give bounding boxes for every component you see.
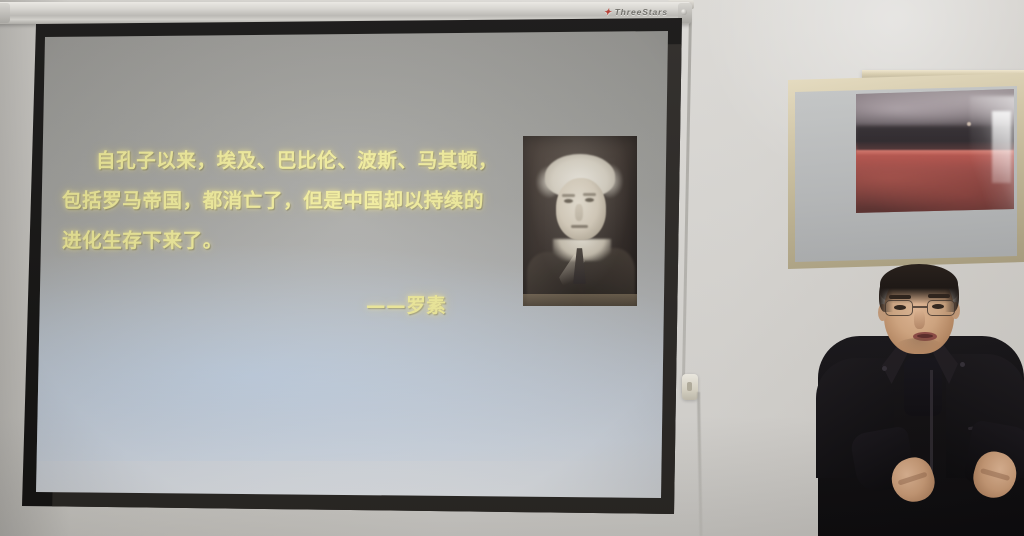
presenter-nose xyxy=(914,310,925,329)
glass-glare-strip xyxy=(992,111,1011,183)
projected-slide-surface[interactable]: 自孔子以来，埃及、巴比伦、波斯、马其顿， 包括罗马帝国，都消亡了，但是中国却以持… xyxy=(36,31,668,498)
star-icon: ✦ xyxy=(604,8,612,16)
presenter-jacket-button-left xyxy=(882,366,887,371)
slide-quote-line-3: 进化生存下来了。 xyxy=(62,221,522,261)
presenter-brow-right xyxy=(928,294,950,298)
presenter-chin-shadow xyxy=(896,338,942,354)
presenter-jacket-placket xyxy=(930,370,933,474)
projector-screen-brand: ✦ ThreeStars xyxy=(604,7,668,17)
glasses-bridge xyxy=(913,306,927,308)
slide-quote-line-1: 自孔子以来，埃及、巴比伦、波斯、马其顿， xyxy=(62,141,522,181)
picture-artwork xyxy=(856,89,1014,213)
brand-label: ThreeStars xyxy=(615,7,668,17)
presenter-inner-shirt xyxy=(904,358,942,416)
slide-attribution: ——罗素 xyxy=(366,289,446,318)
bertrand-russell-portrait xyxy=(523,136,637,306)
slide-quote-line-2: 包括罗马帝国，都消亡了，但是中国却以持续的 xyxy=(62,181,522,221)
presenter-brow-left xyxy=(889,295,911,299)
slide-quote-text: 自孔子以来，埃及、巴比伦、波斯、马其顿， 包括罗马帝国，都消亡了，但是中国却以持… xyxy=(62,141,522,261)
framed-picture[interactable] xyxy=(788,73,1024,269)
wall-cable-clip[interactable] xyxy=(682,374,698,400)
presenter-jacket-button-right xyxy=(960,362,965,367)
classroom-photo-scene: ✦ ThreeStars 自孔子以来，埃及、巴比伦、波斯、马其顿， 包括罗马帝国… xyxy=(0,0,1024,536)
presenter[interactable] xyxy=(818,262,1024,536)
portrait-glow xyxy=(523,136,637,306)
portrait-bottom-bar xyxy=(523,294,637,306)
roller-screw xyxy=(681,9,687,15)
presenter-eye-right xyxy=(932,304,944,309)
presenter-eye-left xyxy=(894,305,906,310)
roller-end-cap-left xyxy=(0,3,10,23)
